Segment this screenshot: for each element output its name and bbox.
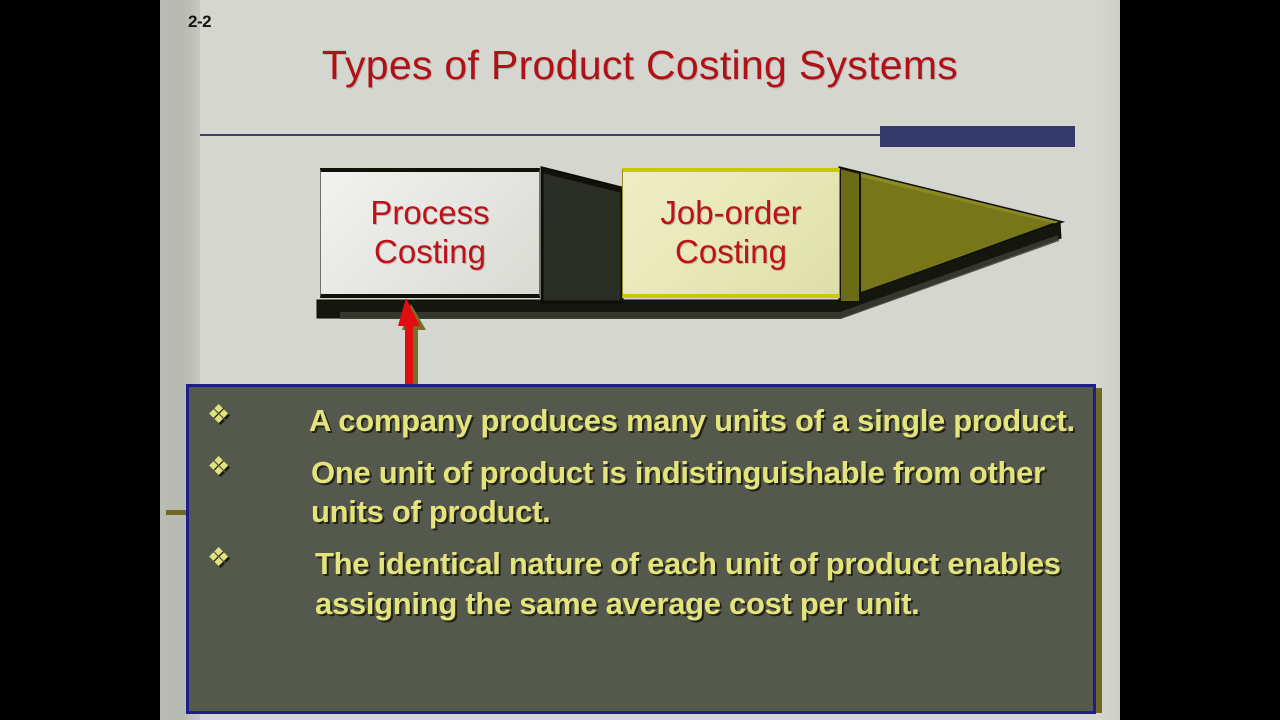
bullet-text: A company produces many units of a singl… (309, 401, 1079, 441)
job-order-costing-line1: Job-order (660, 194, 801, 233)
title-divider-rule (200, 134, 880, 136)
wedge-olive-face (840, 168, 1060, 302)
wedge-dark-face (542, 168, 622, 302)
right-olive-stripe (1096, 388, 1102, 713)
job-order-costing-line2: Costing (675, 233, 787, 272)
process-costing-box[interactable]: Process Costing (320, 168, 540, 298)
diamond-bullet-icon: ❖ (203, 401, 309, 427)
title-accent-bar (880, 126, 1075, 147)
list-item: ❖ A company produces many units of a sin… (203, 401, 1079, 441)
slide-viewer: 2-2 Types of Product Costing Systems Pro… (0, 0, 1280, 720)
up-arrow-icon (396, 296, 426, 396)
job-order-costing-box[interactable]: Job-order Costing (622, 168, 840, 298)
process-costing-line2: Costing (374, 233, 486, 272)
wedge-olive-top (840, 168, 1061, 225)
bullet-text: One unit of product is indistinguishable… (309, 453, 1079, 532)
slide-number: 2-2 (188, 12, 211, 32)
bullet-text-panel: ❖ A company produces many units of a sin… (186, 384, 1096, 714)
list-item: ❖ The identical nature of each unit of p… (203, 544, 1079, 623)
process-costing-line1: Process (370, 194, 489, 233)
slide-canvas: 2-2 Types of Product Costing Systems Pro… (160, 0, 1120, 720)
bullet-text: The identical nature of each unit of pro… (309, 544, 1079, 623)
wedge-dark-face-top (542, 168, 622, 193)
diamond-bullet-icon: ❖ (203, 453, 309, 479)
wedge-olive-side (840, 168, 860, 302)
diamond-bullet-icon: ❖ (203, 544, 309, 570)
page-title: Types of Product Costing Systems (200, 42, 1080, 89)
list-item: ❖ One unit of product is indistinguishab… (203, 453, 1079, 532)
